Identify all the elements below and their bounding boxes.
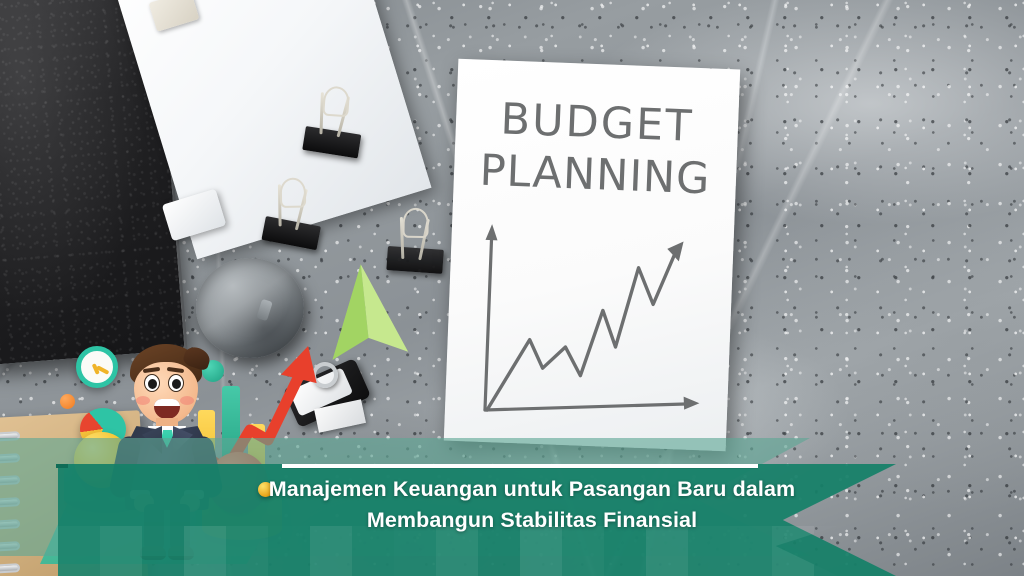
upward-zigzag-line-chart-icon — [463, 219, 720, 428]
binder-clip-loop — [280, 177, 307, 207]
character-shoe — [140, 546, 166, 560]
character-pupil — [172, 379, 181, 389]
notebook-spiral-binding — [0, 430, 22, 576]
budget-planning-note: BUDGET PLANNING — [444, 59, 740, 452]
banner-headline-line1: Manajemen Keuangan untuk Pasangan Baru d… — [269, 477, 796, 501]
banner-image-canvas: BUDGET PLANNING — [0, 0, 1024, 576]
character-legs — [142, 504, 192, 556]
banner-rule-left-cap — [56, 464, 68, 468]
banner-headline: Manajemen Keuangan untuk Pasangan Baru d… — [252, 474, 812, 536]
character-cheek-blush — [180, 396, 194, 405]
character-leg — [170, 504, 190, 550]
character-leg — [144, 504, 164, 550]
orange-dot-decoration — [60, 394, 75, 409]
binder-clip-loop — [402, 208, 429, 238]
character-pupil — [148, 379, 157, 389]
businessman-3d-character — [100, 344, 230, 556]
financial-3d-illustration — [22, 330, 352, 576]
budget-note-title-line1: BUDGET — [455, 93, 739, 154]
banner-headline-line2: Membangun Stabilitas Finansial — [367, 508, 697, 532]
character-cheek-blush — [136, 396, 150, 405]
banner-divider-rule — [282, 464, 758, 468]
budget-note-title-line2: PLANNING — [453, 145, 737, 206]
character-shoe — [168, 546, 194, 560]
binder-clip-loop — [322, 86, 350, 118]
